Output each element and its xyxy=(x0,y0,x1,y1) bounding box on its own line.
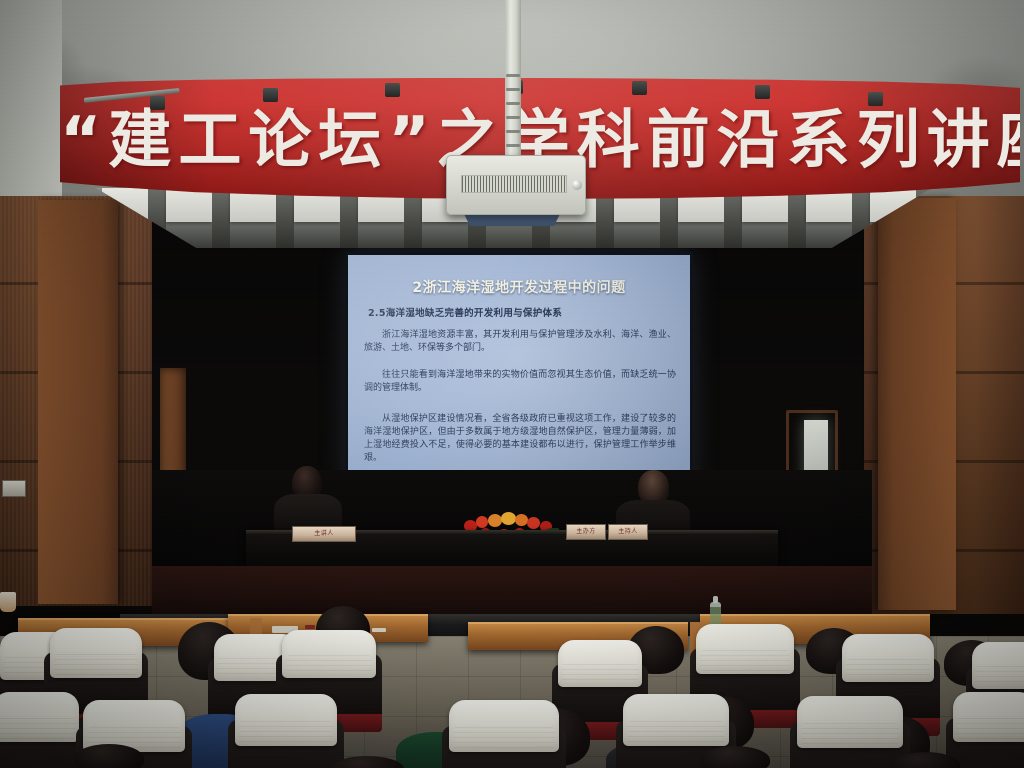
wall-corner-left xyxy=(0,0,62,200)
seat-cover xyxy=(842,634,934,682)
right-wall-column xyxy=(878,198,956,610)
seat-cover xyxy=(696,624,794,674)
placard-mid: 主办方 xyxy=(566,524,606,540)
projector-knob xyxy=(572,180,582,190)
banner-clip xyxy=(263,88,278,102)
slide-paragraph-2: 往往只能看到海洋湿地带来的实物价值而忽视其生态价值，而缺乏统一协调的管理体制。 xyxy=(364,369,676,395)
seat-cover xyxy=(953,692,1024,742)
slide-paragraph-1: 浙江海洋湿地资源丰富，其开发利用与保护管理涉及水利、海洋、渔业、旅游、土地、环保… xyxy=(364,329,676,355)
seat-cover xyxy=(282,630,376,678)
paper-cup xyxy=(0,592,16,612)
soffit-gap xyxy=(340,188,358,248)
banner-clip xyxy=(385,83,400,97)
banner-clip xyxy=(868,92,883,106)
slide-subtitle: 2.5海洋湿地缺乏完善的开发利用与保护体系 xyxy=(368,305,562,319)
banner-clip xyxy=(150,96,165,110)
slide-title: 2浙江海洋湿地开发过程中的问题 xyxy=(348,277,690,297)
slide-paragraph-3: 从湿地保护区建设情况看，全省各级政府已重视这项工作，建设了较多的海洋湿地保护区，… xyxy=(364,413,676,465)
seat-cover xyxy=(797,696,903,748)
light-switch-plate[interactable] xyxy=(2,480,26,497)
projector-vent xyxy=(461,175,567,193)
left-wall-column xyxy=(38,200,118,604)
soffit-gap xyxy=(788,188,806,248)
audience-area xyxy=(0,596,1024,768)
soffit-gap xyxy=(724,188,742,248)
pen xyxy=(372,628,386,632)
audience-head xyxy=(74,744,144,768)
banner-clip xyxy=(755,85,770,99)
placard-right: 主持人 xyxy=(608,524,648,540)
seat-cover xyxy=(50,628,142,678)
placard-left: 主讲人 xyxy=(292,526,356,542)
audience-head xyxy=(700,746,770,768)
seat-cover xyxy=(558,640,642,687)
seat-cover xyxy=(449,700,559,752)
soffit-gap xyxy=(212,188,230,248)
lecture-hall-photo: “建工论坛”之学科前沿系列讲座 2浙江海洋湿地开发过程中的问题 2.5海洋湿地缺… xyxy=(0,0,1024,768)
soffit-fin xyxy=(166,188,212,222)
seat-cover xyxy=(623,694,729,746)
projector xyxy=(446,155,586,215)
seat-cover xyxy=(972,642,1024,689)
projector-pole xyxy=(505,0,521,168)
seat-cover xyxy=(235,694,337,746)
banner-clip xyxy=(632,81,647,95)
soffit-gap xyxy=(276,188,294,248)
pen xyxy=(305,625,315,629)
seat-cover xyxy=(0,692,79,742)
